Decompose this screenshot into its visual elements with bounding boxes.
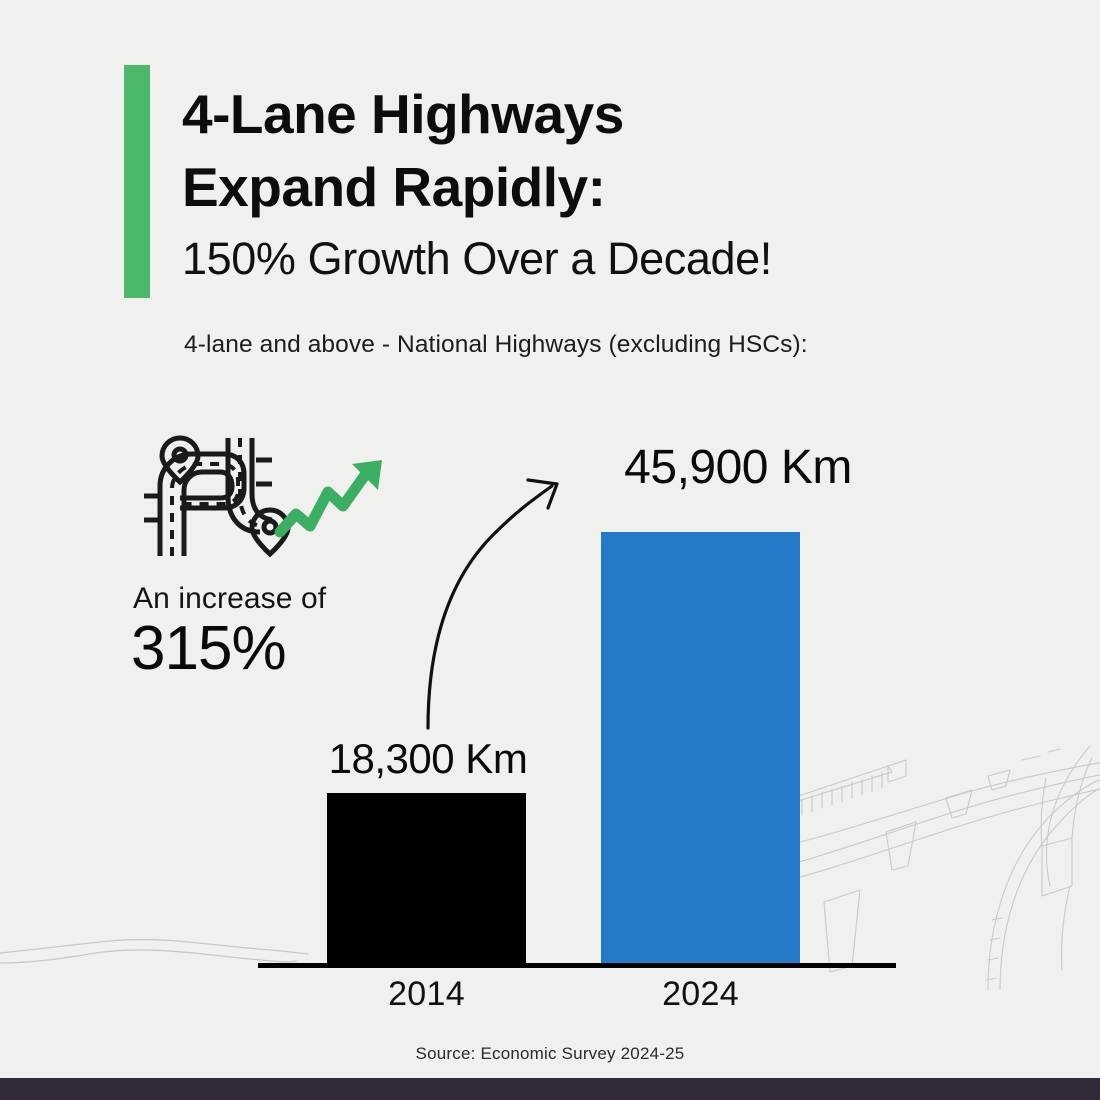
bar-value-label-2014: 18,300 Km bbox=[310, 735, 546, 783]
axis-tick-2024: 2024 bbox=[601, 975, 800, 1014]
page-title-line-1: 4-Lane Highways bbox=[182, 78, 962, 151]
chart-axis-line bbox=[258, 963, 896, 968]
bar-2024 bbox=[601, 532, 800, 967]
page-title-line-2: Expand Rapidly: bbox=[182, 151, 962, 224]
footer-bar bbox=[0, 1078, 1100, 1100]
chart-caption: 4-lane and above - National Highways (ex… bbox=[184, 331, 1044, 359]
page-subtitle: 150% Growth Over a Decade! bbox=[182, 232, 1002, 287]
accent-bar bbox=[124, 65, 150, 298]
axis-tick-2014: 2014 bbox=[327, 975, 526, 1014]
bar-2014 bbox=[327, 793, 526, 967]
source-note: Source: Economic Survey 2024-25 bbox=[0, 1044, 1100, 1064]
infographic-canvas: 4-Lane Highways Expand Rapidly: 150% Gro… bbox=[0, 0, 1100, 1100]
page-title: 4-Lane Highways Expand Rapidly: bbox=[182, 78, 962, 223]
bar-value-label-2024: 45,900 Km bbox=[578, 440, 898, 495]
bar-chart bbox=[258, 430, 898, 967]
